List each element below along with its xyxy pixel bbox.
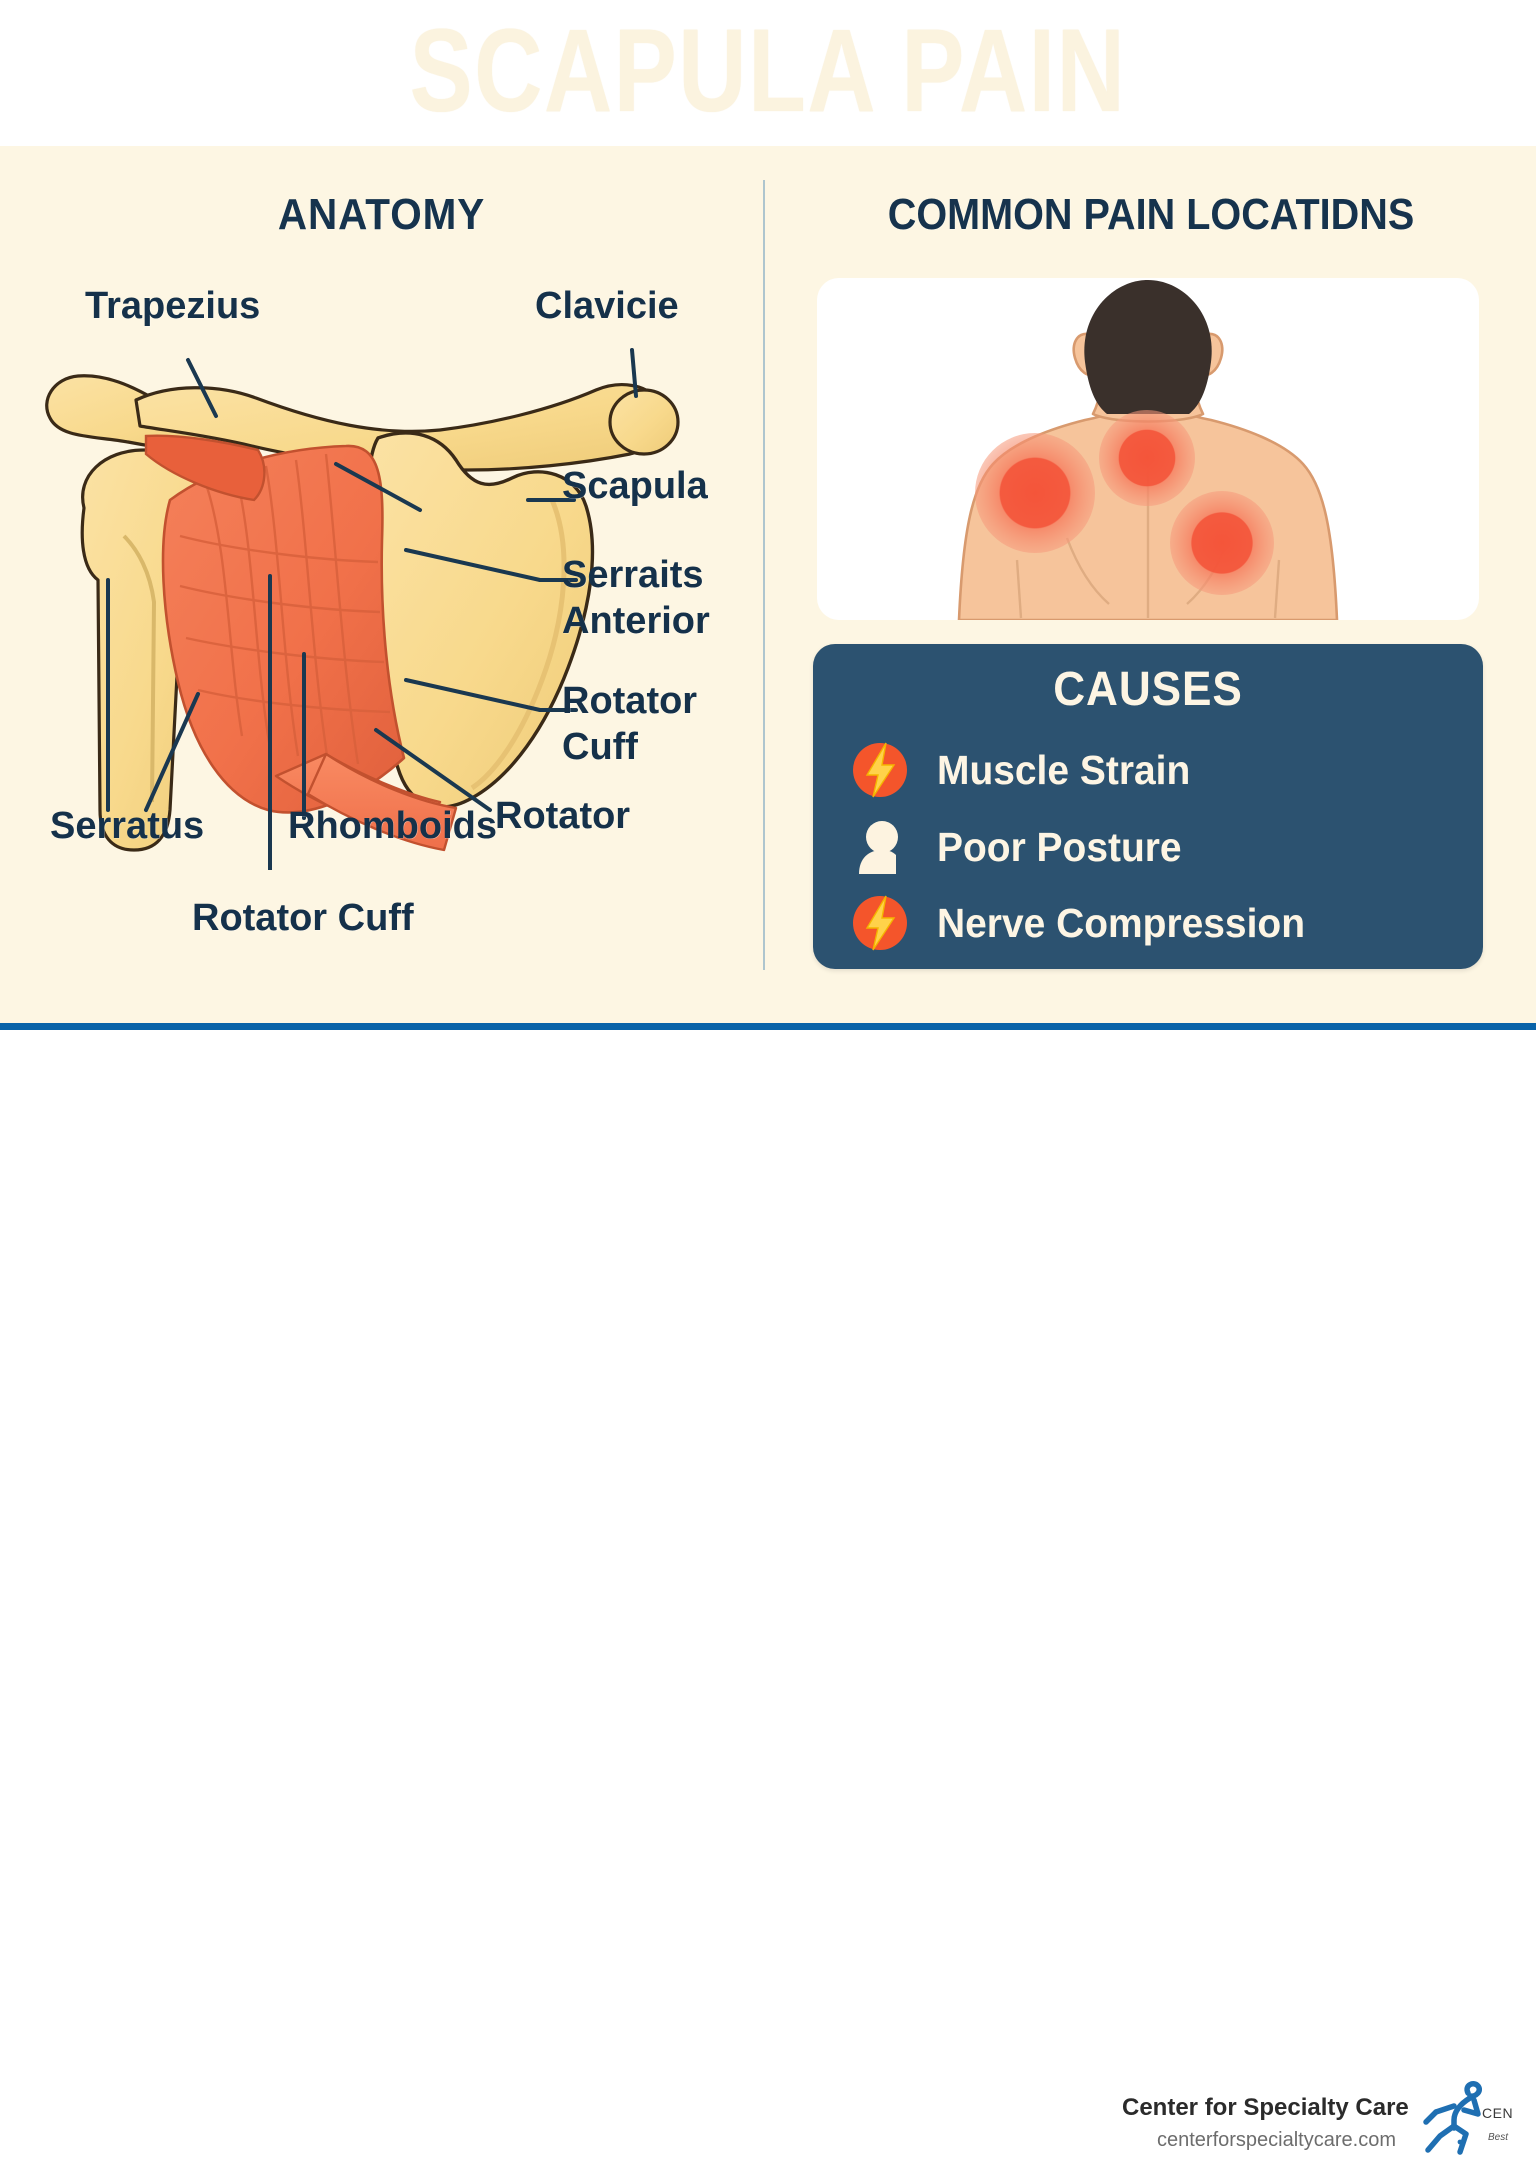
brand-url: centerforspecialtycare.com — [1157, 2129, 1396, 2152]
head-hair — [1084, 280, 1211, 414]
anatomy-label-trapezius: Trapezius — [85, 283, 260, 329]
anatomy-label-rotator-cuff-bottom: Rotator Cuff — [192, 895, 414, 941]
causes-title: CAUSES — [840, 662, 1456, 717]
cause-item-muscle-strain: Muscle Strain — [849, 739, 1469, 801]
anatomy-label-clavicle: Clavicie — [535, 283, 679, 329]
blue-divider-rule — [0, 1023, 1536, 1030]
rotator-cuff-muscle — [163, 446, 404, 812]
anatomy-label-serratus: Serratus — [50, 803, 204, 849]
logo-word: CEN — [1482, 2105, 1513, 2121]
cause-item-poor-posture: Poor Posture — [849, 816, 1469, 878]
cause-label: Muscle Strain — [937, 741, 1190, 799]
person-icon — [849, 816, 911, 878]
anatomy-heading: ANATOMY — [31, 190, 733, 240]
anatomy-label-rotator-cuff: Rotator Cuff — [562, 678, 697, 770]
upper-back-illustration — [817, 278, 1479, 620]
pain-spot-left-scapula — [975, 433, 1095, 553]
infographic-poster: SCAPULA PAIN ANATOMY — [0, 0, 1536, 1154]
cause-label: Poor Posture — [937, 818, 1182, 876]
lightning-bolt-icon — [849, 892, 911, 954]
title-band: SCAPULA PAIN — [0, 0, 1536, 146]
anatomy-label-scapula: Scapula — [562, 463, 708, 509]
anatomy-label-serratus-anterior: Serraits Anterior — [562, 552, 710, 644]
footer-bar: Center for Specialty Care centerforspeci… — [0, 1030, 1536, 1154]
anatomy-label-rotator: Rotator — [495, 793, 630, 839]
pain-locations-heading: COMMON PAIN LOCATIDNS — [805, 190, 1498, 240]
logo-subtext: Best — [1488, 2132, 1509, 2143]
running-figure-icon: CEN Best — [1420, 2080, 1536, 2162]
column-divider — [763, 180, 765, 970]
causes-box: CAUSES Muscle Strain Poor Posture Nerve … — [813, 644, 1483, 969]
pain-locations-card — [817, 278, 1479, 620]
page-title: SCAPULA PAIN — [154, 12, 1383, 130]
pain-spot-upper-spine — [1099, 410, 1195, 506]
brand-name: Center for Specialty Care — [1122, 2094, 1409, 2122]
anatomy-label-rhomboids: Rhomboids — [288, 803, 497, 849]
pain-spot-right-scapula — [1170, 491, 1274, 595]
cause-label: Nerve Compression — [937, 894, 1305, 952]
cause-item-nerve-compression: Nerve Compression — [849, 892, 1469, 954]
brand-logo: CEN Best — [1420, 2080, 1536, 2162]
lightning-bolt-icon — [849, 739, 911, 801]
